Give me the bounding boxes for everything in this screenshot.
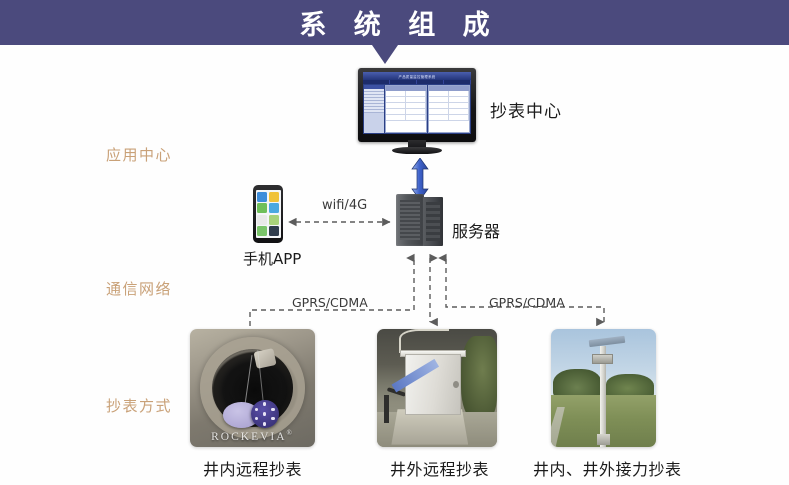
device-led [263, 412, 267, 416]
diagram-canvas: 系 统 组 成 应用中心 通信网络 抄表方式 产品质量监控管理系统 [0, 0, 789, 485]
cabinet-shrub [461, 336, 497, 421]
phone-screen [256, 190, 281, 238]
photo-watermark: ROCKEVIA® [190, 429, 315, 443]
label-server: 服务器 [452, 218, 500, 242]
label-mobile-app: 手机APP [243, 248, 301, 269]
screen-table-cell [386, 91, 406, 96]
screen-tables [385, 85, 470, 133]
header-banner: 系 统 组 成 [0, 0, 789, 45]
app-icon [257, 226, 267, 236]
caption-out-well-remote: 井外远程抄表 [390, 456, 489, 480]
phone-body [253, 185, 283, 243]
label-meter-reading-center: 抄表中心 [490, 97, 562, 122]
screen-table-cell [429, 109, 449, 114]
device-led [255, 408, 259, 412]
screen-table-left [385, 85, 427, 133]
screen-table-cell [449, 115, 469, 120]
cabinet-pipe-vertical [384, 395, 389, 423]
cabinet-lock [453, 381, 459, 388]
screen-table-cell [406, 109, 426, 114]
monitor-stand-base [392, 147, 442, 154]
screen-table-cell [386, 103, 406, 108]
device-led [263, 422, 267, 426]
screen-title-bar: 产品质量监控管理系统 [363, 72, 471, 80]
screen-sidebar-tree [364, 85, 384, 133]
photo-in-well-content: ROCKEVIA® [190, 329, 315, 447]
monitor-screen: 产品质量监控管理系统 [363, 72, 471, 134]
app-icon [257, 192, 267, 202]
photo-in-well-remote: ROCKEVIA® [190, 329, 315, 447]
app-icon [269, 192, 279, 202]
screen-title-text: 产品质量监控管理系统 [399, 74, 436, 79]
link-server-pole-right [446, 258, 604, 322]
screen-table-cell [429, 91, 449, 96]
link-label-wifi: wifi/4G [322, 198, 367, 213]
cabinet-rail [399, 329, 449, 353]
screen-table-cell [449, 97, 469, 102]
screen-table-cell [406, 97, 426, 102]
row-label-application-center: 应用中心 [106, 144, 172, 165]
caption-relay-reading: 井内、井外接力抄表 [533, 456, 682, 480]
link-label-gprs-right: GPRS/CDMA [489, 295, 565, 310]
monitor-bezel: 产品质量监控管理系统 [358, 68, 476, 142]
photo-cabinet-content [377, 329, 497, 447]
device-led [271, 417, 275, 421]
page-title: 系 统 组 成 [290, 3, 498, 42]
banner-notch-triangle [372, 45, 398, 64]
row-label-meter-reading-method: 抄表方式 [106, 395, 172, 416]
caption-in-well-remote: 井内远程抄表 [203, 456, 302, 480]
screen-table-cell [386, 115, 406, 120]
screen-table-cell [449, 91, 469, 96]
screen-table-cell [449, 109, 469, 114]
screen-table-cell [429, 97, 449, 102]
screen-table-right [428, 85, 470, 133]
device-led [255, 417, 259, 421]
app-icon [269, 215, 279, 225]
screen-table-row [386, 115, 426, 121]
app-icon [269, 203, 279, 213]
screen-table-row [429, 115, 469, 121]
app-icon [257, 203, 267, 213]
screen-table-cell [429, 103, 449, 108]
monitor-illustration: 产品质量监控管理系统 [358, 68, 476, 154]
well-meter-device [251, 400, 279, 428]
pole-base [597, 434, 610, 445]
link-label-gprs-left: GPRS/CDMA [292, 295, 368, 310]
screen-table-cell [406, 103, 426, 108]
photo-relay-reading [551, 329, 656, 447]
photo-pole-content [551, 329, 656, 447]
server-tower-secondary [423, 197, 443, 246]
pole-equipment-box [592, 354, 613, 365]
app-icon [257, 215, 267, 225]
screen-table-cell [386, 97, 406, 102]
screen-table-cell [406, 91, 426, 96]
screen-table-cell [386, 109, 406, 114]
device-led [271, 408, 275, 412]
screen-table-cell [449, 103, 469, 108]
app-icon [269, 226, 279, 236]
photo-out-well-remote [377, 329, 497, 447]
screen-sidebar-row [364, 110, 384, 113]
screen-table-cell [406, 115, 426, 120]
device-led [263, 402, 267, 406]
screen-table-cell [429, 115, 449, 120]
watermark-text: ROCKEVIA [211, 431, 286, 443]
watermark-registered-mark: ® [287, 429, 294, 437]
smartphone-illustration [253, 185, 283, 243]
row-label-communication-network: 通信网络 [106, 278, 172, 299]
server-tower-primary [396, 194, 424, 246]
server-illustration [396, 192, 446, 246]
screen-body [363, 84, 471, 134]
